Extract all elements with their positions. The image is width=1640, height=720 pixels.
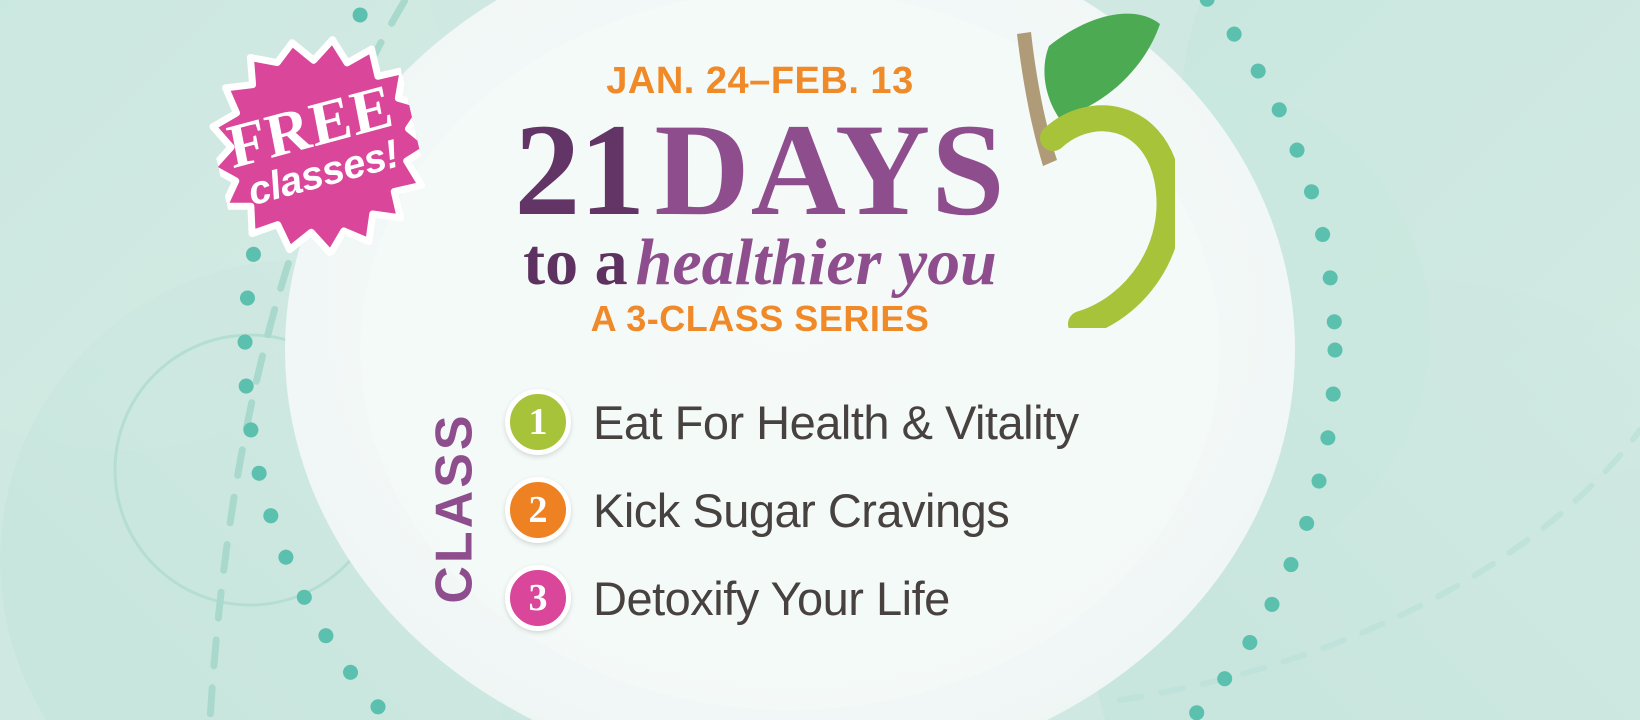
class-number-2: 2 (529, 491, 548, 529)
subtitle: to ahealthier you (430, 228, 1090, 297)
class-badge-2: 2 (505, 477, 571, 543)
class-title-2: Kick Sugar Cravings (593, 487, 1009, 534)
class-list: 1 Eat For Health & Vitality 2 Kick Sugar… (505, 378, 1120, 642)
class-list-section: CLASS 1 Eat For Health & Vitality 2 Kick… (420, 378, 1120, 648)
class-title-3: Detoxify Your Life (593, 575, 950, 622)
subtitle-italic: healthier you (636, 226, 997, 299)
subtitle-plain: to a (523, 226, 627, 299)
list-item[interactable]: 1 Eat For Health & Vitality (505, 378, 1120, 466)
headline-block: JAN. 24–FEB. 13 21DAYS to ahealthier you… (430, 62, 1090, 337)
class-vertical-label: CLASS (420, 378, 490, 638)
class-title-1: Eat For Health & Vitality (593, 399, 1079, 446)
series-label: A 3-CLASS SERIES (430, 301, 1090, 337)
list-item[interactable]: 2 Kick Sugar Cravings (505, 466, 1120, 554)
event-dates: JAN. 24–FEB. 13 (430, 62, 1090, 100)
class-badge-1: 1 (505, 389, 571, 455)
promo-banner: FREE classes! JAN. 24–FEB. 13 21DAYS to … (0, 0, 1640, 720)
class-badge-3: 3 (505, 565, 571, 631)
class-number-3: 3 (529, 579, 548, 617)
class-vertical-text: CLASS (425, 412, 485, 603)
class-number-1: 1 (529, 403, 548, 441)
list-item[interactable]: 3 Detoxify Your Life (505, 554, 1120, 642)
title-number: 21 (514, 96, 644, 243)
title-word: DAYS (654, 96, 1005, 243)
page-title: 21DAYS (430, 104, 1090, 236)
